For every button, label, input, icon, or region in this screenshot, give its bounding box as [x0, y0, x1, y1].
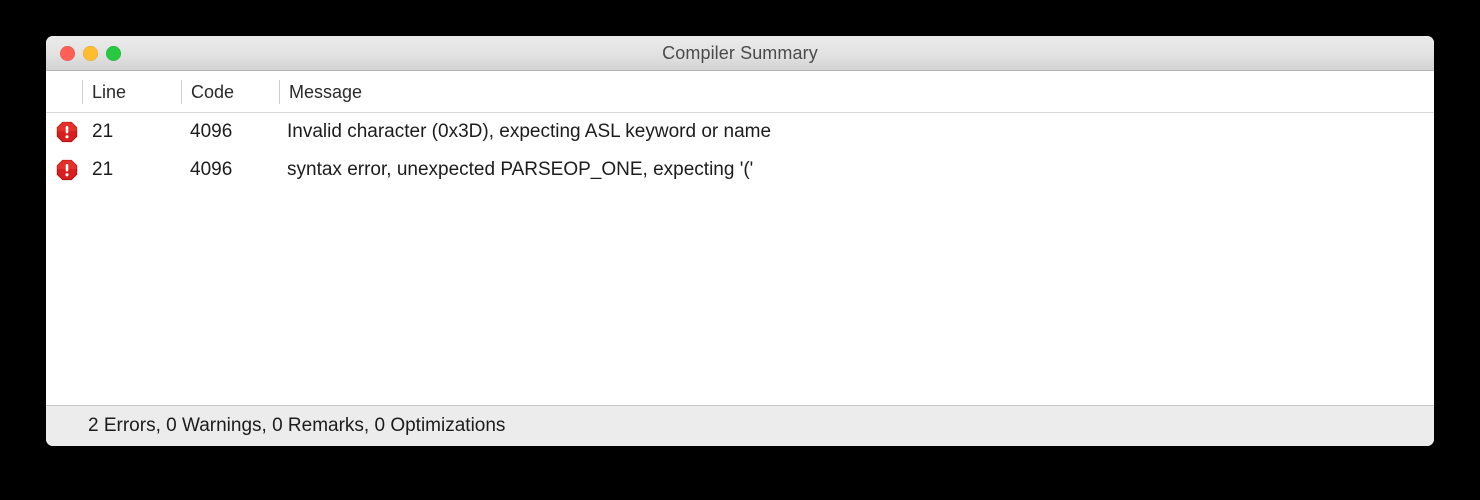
error-octagon-icon — [52, 113, 82, 151]
row-line-number: 21 — [92, 151, 113, 189]
close-button[interactable] — [60, 46, 75, 61]
status-bar: 2 Errors, 0 Warnings, 0 Remarks, 0 Optim… — [46, 405, 1434, 446]
maximize-button[interactable] — [106, 46, 121, 61]
column-divider-line[interactable] — [181, 80, 182, 104]
column-header-code[interactable]: Code — [191, 71, 234, 113]
row-error-code: 4096 — [190, 151, 232, 189]
window-title: Compiler Summary — [46, 36, 1434, 70]
table-column-header: Line Code Message — [46, 71, 1434, 113]
table-row[interactable]: 21 4096 Invalid character (0x3D), expect… — [46, 113, 1434, 151]
compiler-summary-window: Compiler Summary Line Code Message 21 40… — [46, 36, 1434, 446]
error-octagon-icon — [52, 151, 82, 189]
column-divider-code[interactable] — [279, 80, 280, 104]
column-divider-icon[interactable] — [82, 80, 83, 104]
window-titlebar[interactable]: Compiler Summary — [46, 36, 1434, 71]
row-error-code: 4096 — [190, 113, 232, 151]
status-summary-text: 2 Errors, 0 Warnings, 0 Remarks, 0 Optim… — [88, 415, 505, 437]
row-message: syntax error, unexpected PARSEOP_ONE, ex… — [287, 151, 753, 189]
traffic-light-group — [60, 46, 121, 61]
row-line-number: 21 — [92, 113, 113, 151]
row-message: Invalid character (0x3D), expecting ASL … — [287, 113, 771, 151]
column-header-message[interactable]: Message — [289, 71, 362, 113]
minimize-button[interactable] — [83, 46, 98, 61]
diagnostics-table-body[interactable]: 21 4096 Invalid character (0x3D), expect… — [46, 113, 1434, 405]
column-header-line[interactable]: Line — [92, 71, 126, 113]
table-row[interactable]: 21 4096 syntax error, unexpected PARSEOP… — [46, 151, 1434, 189]
